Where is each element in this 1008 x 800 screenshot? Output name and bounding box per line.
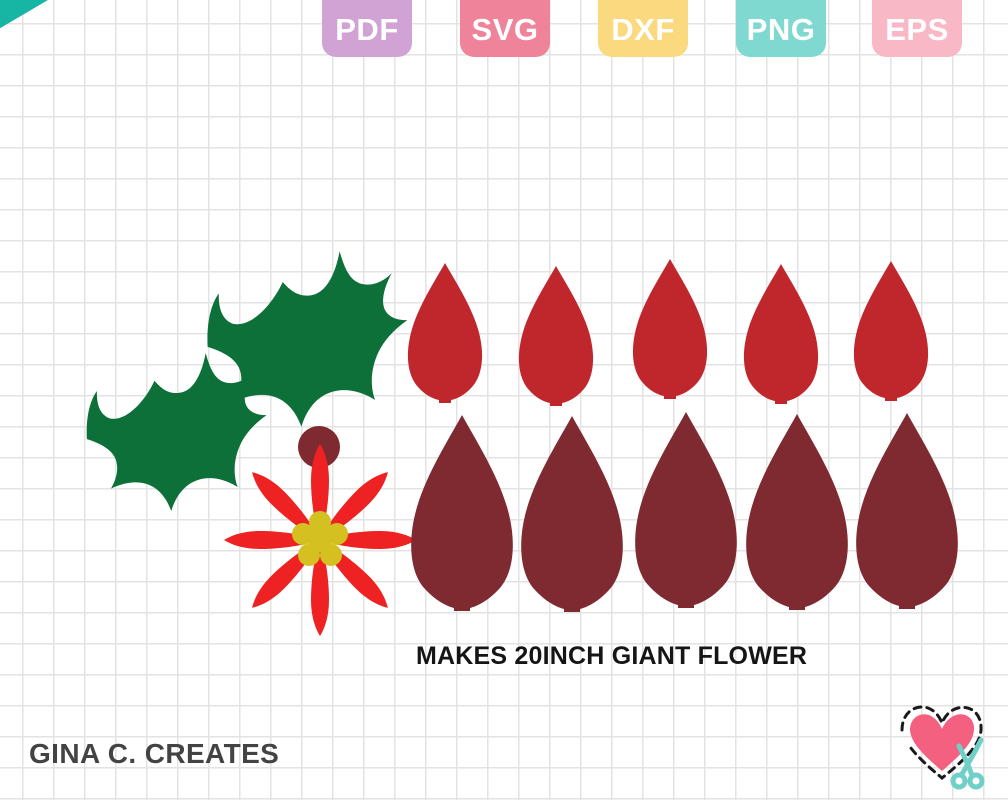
banner-line-1: P A P E R [0,0,255,32]
berry-circle [298,426,340,468]
format-badge-pdf[interactable]: PDF [322,0,412,57]
maroon-petal-5 [856,413,958,609]
design-canvas: P A P E R S V G C U T F I L E PDF SVG DX… [0,0,1008,800]
red-petal-3 [633,259,707,399]
cut-file-artwork [0,0,1008,800]
banner-line-2: S V G C U T F I L E [0,0,271,58]
format-badge-png[interactable]: PNG [736,0,826,57]
holly-leaf-group [73,235,431,529]
red-petal-1 [408,263,482,403]
gina-c-creates-logo [886,694,994,792]
holly-leaf-upper-right [192,235,431,447]
maroon-petal-1 [411,415,513,611]
poinsettia-flower [224,444,416,636]
scissors-icon [953,740,982,787]
paper-svg-cut-file-banner: P A P E R S V G C U T F I L E [0,0,283,80]
maroon-petal-row [411,412,958,612]
format-badge-eps[interactable]: EPS [872,0,962,57]
maroon-petal-4 [746,414,848,610]
format-badge-dxf[interactable]: DXF [598,0,688,57]
red-petal-5 [854,261,928,401]
red-petal-row [408,259,928,406]
maroon-petal-3 [635,412,737,608]
format-badge-svg[interactable]: SVG [460,0,550,57]
logo-svg [886,694,994,792]
poinsettia-petals [224,444,416,636]
poinsettia-center [292,511,348,566]
holly-leaf-lower-left [73,339,288,530]
brand-name-label: GINA C. CREATES [29,738,279,770]
makes-size-label: MAKES 20INCH GIANT FLOWER [416,642,807,671]
red-petal-4 [744,264,818,404]
red-petal-2 [519,266,593,406]
maroon-petal-2 [521,416,623,612]
